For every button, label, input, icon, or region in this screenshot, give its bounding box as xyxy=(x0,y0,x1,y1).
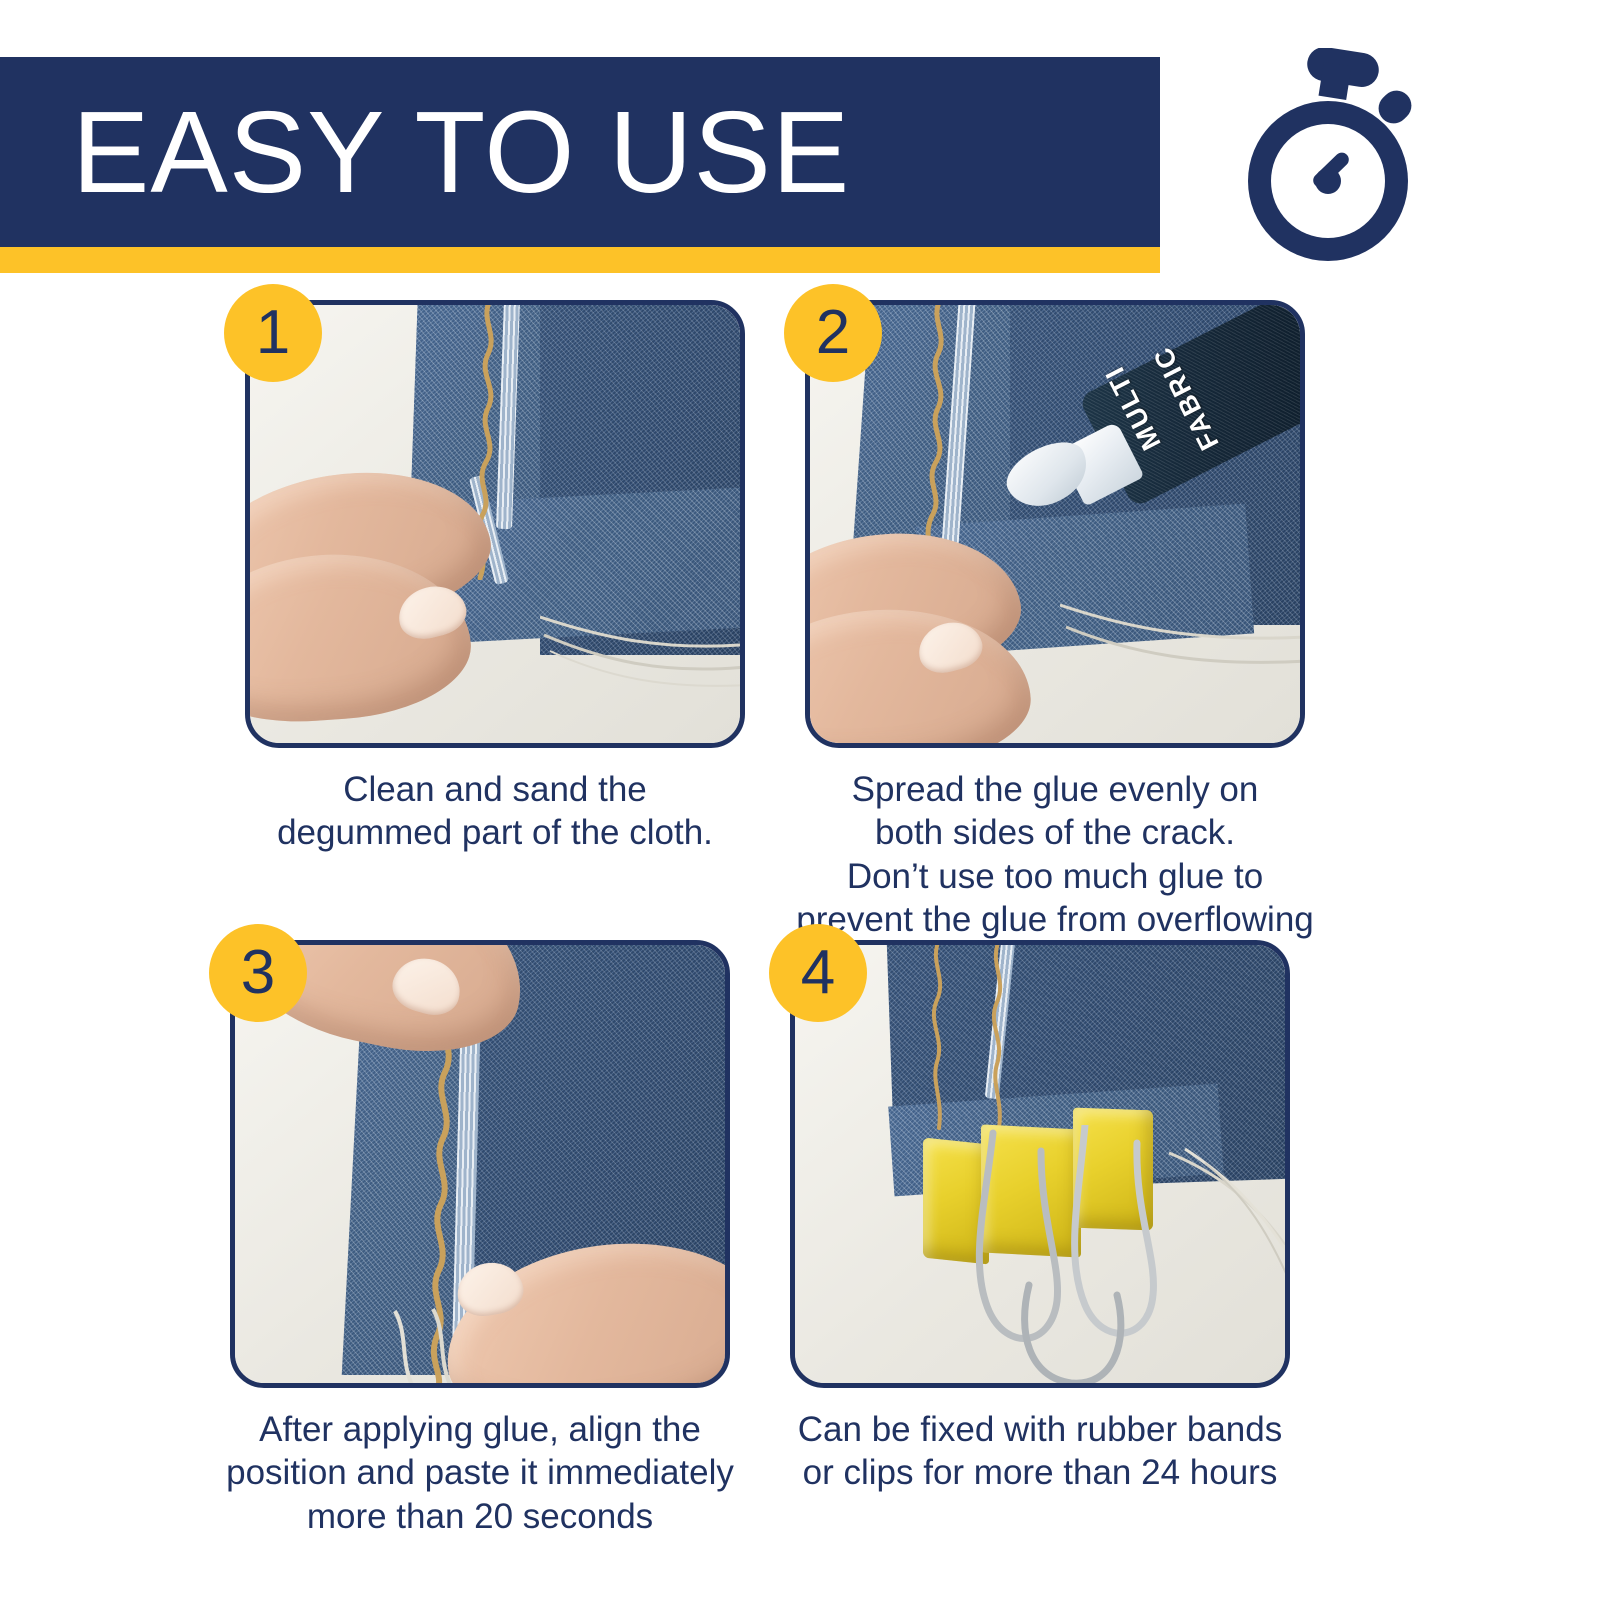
header-accent-bar xyxy=(0,247,1160,273)
page-title: EASY TO USE xyxy=(72,94,850,210)
step-caption-1: Clean and sand the degummed part of the … xyxy=(215,768,775,855)
step-image-panel-1 xyxy=(245,300,745,748)
step-card-3: 3 After applying glue, align the positio… xyxy=(200,940,760,1538)
step-card-4: 4 Can be fixed with rubber bands or clip… xyxy=(760,940,1320,1495)
step-badge-1: 1 xyxy=(224,284,322,382)
infographic-page: EASY TO USE xyxy=(0,0,1600,1600)
step-caption-3: After applying glue, align the position … xyxy=(200,1408,760,1538)
step-card-1: 1 Clean and sand the degummed part of th… xyxy=(215,300,775,855)
step-image-panel-4 xyxy=(790,940,1290,1388)
step-photo-4 xyxy=(795,945,1285,1383)
stopwatch-icon xyxy=(1228,48,1438,268)
binder-clip-wire-handles xyxy=(945,1125,1205,1383)
step-card-2: MULTI FABRIC xyxy=(775,300,1335,942)
step-badge-4: 4 xyxy=(769,924,867,1022)
step-photo-1 xyxy=(250,305,740,743)
step-photo-3 xyxy=(235,945,725,1383)
step-photo-2: MULTI FABRIC xyxy=(810,305,1300,743)
step-caption-4: Can be fixed with rubber bands or clips … xyxy=(760,1408,1320,1495)
step-caption-2: Spread the glue evenly on both sides of … xyxy=(775,768,1335,942)
step-badge-3: 3 xyxy=(209,924,307,1022)
step-badge-2: 2 xyxy=(784,284,882,382)
header-banner: EASY TO USE xyxy=(0,57,1160,247)
steps-grid: 1 Clean and sand the degummed part of th… xyxy=(0,300,1600,1590)
step-image-panel-2: MULTI FABRIC xyxy=(805,300,1305,748)
step-image-panel-3 xyxy=(230,940,730,1388)
